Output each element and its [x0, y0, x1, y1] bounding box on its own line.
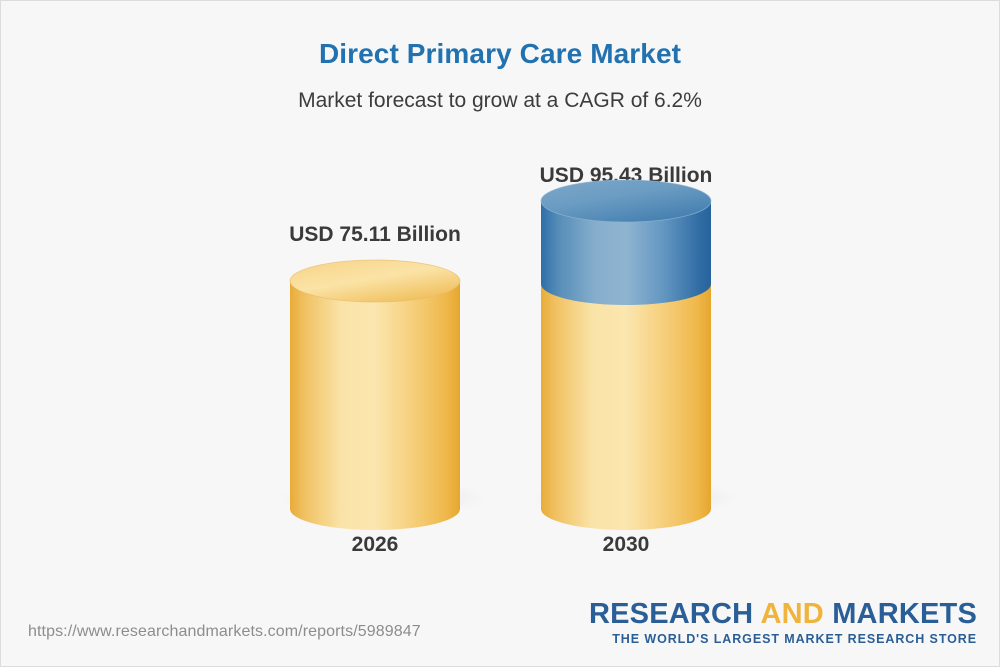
logo-word-research: RESEARCH [589, 598, 753, 630]
category-label-2026: 2026 [290, 533, 460, 557]
logo-tagline: THE WORLD'S LARGEST MARKET RESEARCH STOR… [589, 632, 977, 646]
cylinder-2026 [264, 171, 486, 541]
brand-logo: RESEARCH AND MARKETS THE WORLD'S LARGEST… [589, 599, 977, 646]
plot-area: USD 75.11 Billion [1, 1, 1000, 601]
source-url[interactable]: https://www.researchandmarkets.com/repor… [28, 623, 421, 641]
logo-word-and: AND [761, 598, 824, 630]
logo-word-markets: MARKETS [832, 598, 977, 630]
logo-wordmark: RESEARCH AND MARKETS [589, 599, 977, 629]
cylinder-2030 [515, 171, 737, 541]
category-label-2030: 2030 [541, 533, 711, 557]
chart-page: Direct Primary Care Market Market foreca… [0, 0, 1000, 667]
